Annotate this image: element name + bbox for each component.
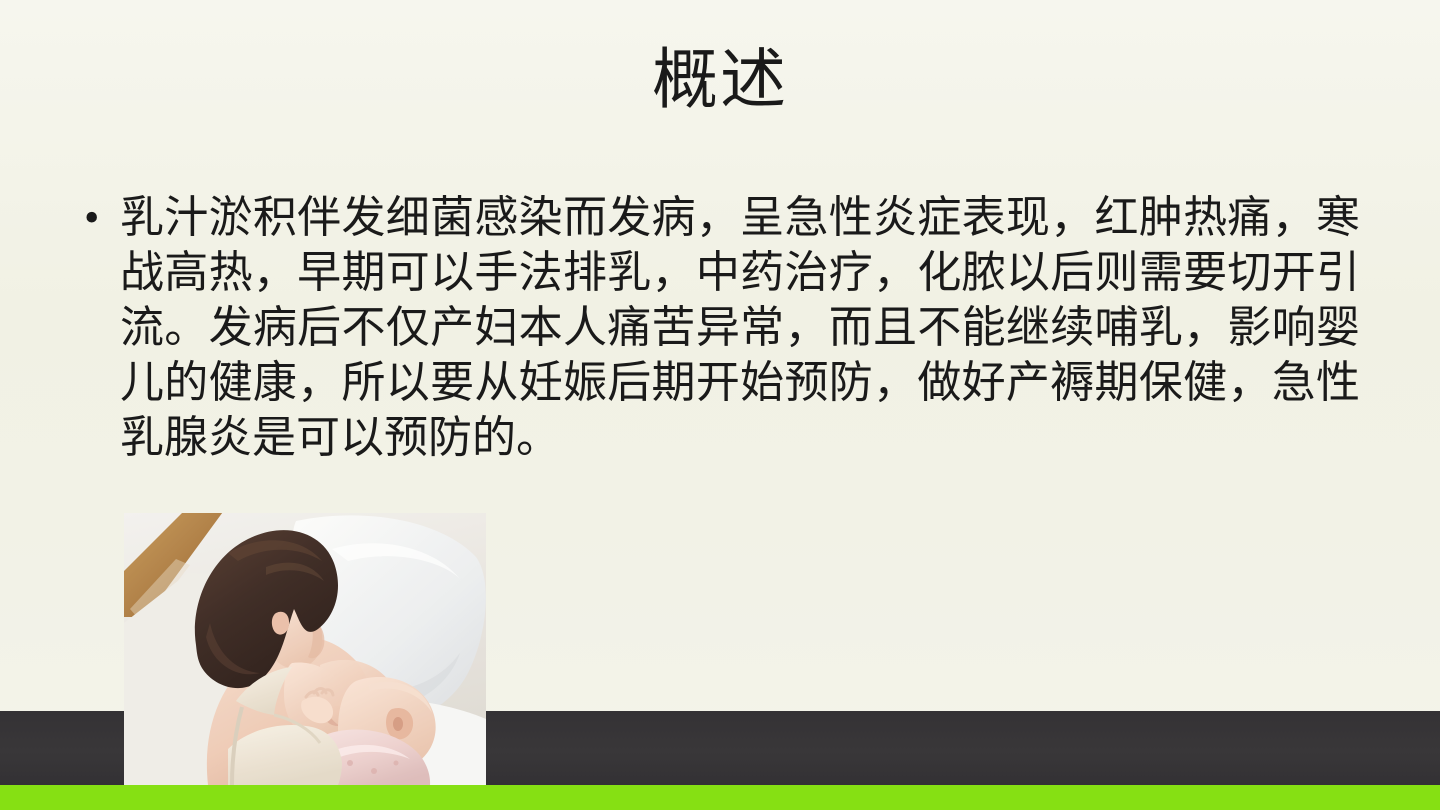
list-item: • 乳汁淤积伴发细菌感染而发病，呈急性炎症表现，红肿热痛，寒战高热，早期可以手法… [78, 190, 1360, 465]
body-content-placeholder[interactable]: • 乳汁淤积伴发细菌感染而发病，呈急性炎症表现，红肿热痛，寒战高热，早期可以手法… [78, 190, 1360, 465]
breastfeeding-photo[interactable] [124, 513, 486, 785]
slide-canvas: 概述 • 乳汁淤积伴发细菌感染而发病，呈急性炎症表现，红肿热痛，寒战高热，早期可… [0, 0, 1440, 810]
photo-image [124, 513, 486, 785]
footer-accent-bar [0, 785, 1440, 810]
bullet-paragraph: 乳汁淤积伴发细菌感染而发病，呈急性炎症表现，红肿热痛，寒战高热，早期可以手法排乳… [120, 190, 1360, 465]
page-title: 概述 [0, 44, 1440, 118]
bullet-icon: • [78, 190, 120, 246]
